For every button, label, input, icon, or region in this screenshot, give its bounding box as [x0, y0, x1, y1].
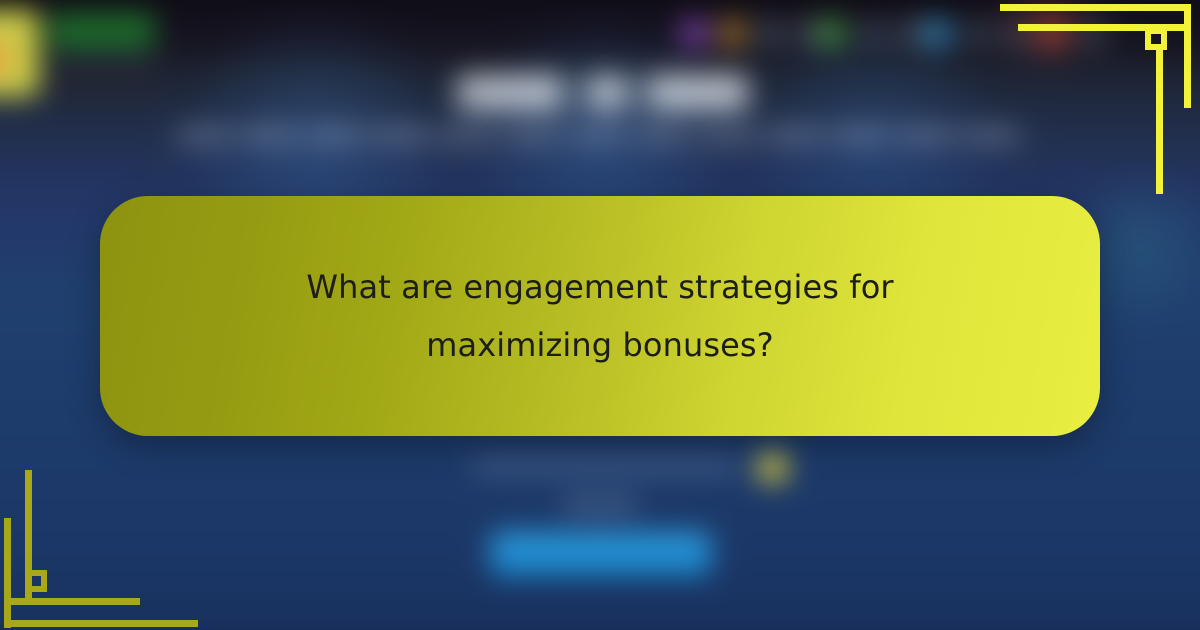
page-subtitle-blurred	[176, 127, 1024, 143]
provider-dot-orange	[719, 19, 747, 47]
bg-line-caption-left	[473, 460, 738, 472]
question-text: What are engagement strategies for maxim…	[190, 258, 1010, 374]
bracket-square-top-right	[1145, 28, 1167, 50]
bracket-bar-vertical-inner	[1156, 44, 1163, 194]
page-heading-blurred	[457, 74, 749, 110]
coin-icon	[757, 452, 789, 484]
primary-cta-button-blurred	[491, 532, 711, 577]
bracket-bar-vertical-outer	[1184, 4, 1191, 108]
corner-bracket-top-right	[990, 0, 1200, 200]
bg-line-caption-mid	[563, 498, 637, 512]
screenshot-stage: What are engagement strategies for maxim…	[0, 0, 1200, 630]
bracket-bar-top-long	[1000, 4, 1190, 11]
header-dark-panel	[47, 53, 157, 95]
corner-bracket-bottom-left	[0, 430, 210, 630]
question-card: What are engagement strategies for maxim…	[100, 196, 1100, 436]
header-promo-badge-inner	[0, 43, 11, 75]
provider-dot-slate	[757, 19, 785, 47]
bracket-bar-bottom-long	[8, 620, 198, 627]
header-green-tag	[49, 13, 155, 49]
bracket-bar-vertical-outer-bl	[4, 518, 11, 628]
bracket-square-bottom-left	[25, 570, 47, 592]
